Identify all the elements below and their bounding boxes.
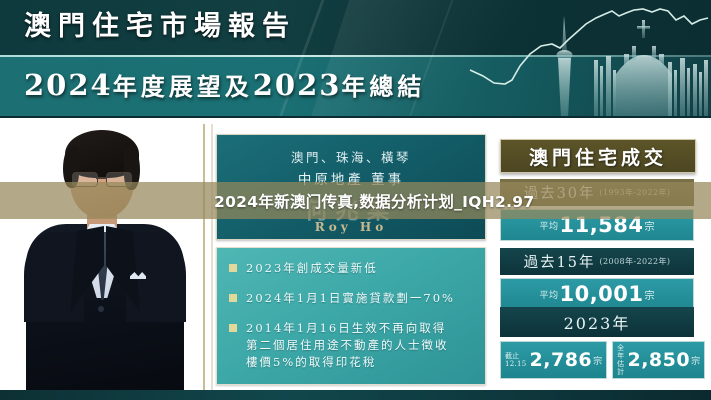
page-subtitle: 2024年度展望及2023年總結: [24, 63, 425, 109]
presenter-name-en: Roy Ho: [217, 220, 485, 234]
stat-label-15y-range: (2008年-2022年): [600, 256, 671, 267]
presenter-photo: [18, 120, 193, 392]
bullet-square-icon: [229, 294, 237, 302]
stat-value-30y-unit: 宗: [645, 218, 655, 233]
bullet-square-icon: [229, 324, 237, 332]
key-point-text: 2024年1月1日實施貸款劃一70%: [246, 290, 455, 307]
stat-value-30y-prefix: 平均: [539, 219, 558, 232]
subtitle-mid: 年度展望及: [113, 72, 253, 101]
stat-cell-ytd-number: 2,786: [530, 349, 593, 371]
list-item: 2023年創成交量新低: [229, 260, 477, 277]
stat-cell-forecast-tag-l1: 全年: [617, 344, 624, 360]
photo-glasses-bridge: [96, 177, 106, 179]
stat-label-15y: 過去15年 (2008年-2022年): [500, 248, 694, 275]
stat-label-15y-main: 過去15年: [524, 251, 596, 272]
region-line: 澳門、珠海、橫琴: [217, 147, 485, 166]
subtitle-end: 年總結: [341, 72, 425, 101]
watermark-text: 2024年新澳门传真,数据分析计划_IQH2.97: [0, 182, 711, 219]
key-points-list: 2023年創成交量新低 2024年1月1日實施貸款劃一70% 2014年1月16…: [229, 260, 477, 384]
stat-cell-forecast: 全年 估計 2,850 宗: [612, 341, 705, 379]
stat-cell-ytd-tag-l2: 12.15: [505, 360, 527, 368]
stat-cell-ytd-tag: 截止 12.15: [505, 352, 527, 368]
stat-value-15y-prefix: 平均: [539, 288, 558, 301]
subtitle-year-1: 2024: [24, 68, 113, 102]
stat-cell-ytd-tag-l1: 截止: [505, 352, 520, 360]
report-infographic: 澳門住宅市場報告 2024年度展望及2023年總結 澳門、珠海、橫琴 中原地產 …: [0, 0, 711, 400]
stat-cell-ytd: 截止 12.15 2,786 宗: [500, 341, 607, 379]
stat-cell-forecast-number: 2,850: [627, 349, 690, 371]
vertical-rule-gold: [203, 124, 205, 390]
transactions-panel-title-text: 澳門住宅成交: [529, 143, 667, 170]
stat-value-15y: 平均 10,001 宗: [500, 278, 694, 310]
stat-label-2023: 2023年: [500, 307, 694, 337]
bullet-square-icon: [229, 264, 237, 272]
header-banner: 澳門住宅市場報告 2024年度展望及2023年總結: [0, 0, 711, 118]
stat-label-2023-text: 2023年: [564, 310, 631, 334]
bottom-strip: [0, 390, 711, 400]
stat-cells-2023: 截止 12.15 2,786 宗 全年 估計 2,850 宗: [500, 341, 694, 379]
key-point-text: 2023年創成交量新低: [246, 260, 378, 277]
subtitle-year-2: 2023: [253, 68, 342, 102]
stat-row-15y: 過去15年 (2008年-2022年) 平均 10,001 宗: [500, 248, 694, 310]
page-title: 澳門住宅市場報告: [24, 8, 296, 46]
transactions-panel-title: 澳門住宅成交: [500, 139, 696, 173]
stat-cell-ytd-unit: 宗: [593, 354, 602, 367]
stat-value-15y-unit: 宗: [645, 287, 655, 302]
stat-cell-forecast-tag: 全年 估計: [617, 344, 624, 376]
stat-value-15y-number: 10,001: [559, 282, 643, 306]
list-item: 2014年1月16日生效不再向取得 第二個居住用途不動產的人士徵收 樓價5%的取…: [229, 320, 477, 371]
stat-cell-forecast-unit: 宗: [691, 354, 700, 367]
photo-suit-button: [98, 306, 104, 312]
vertical-rule-cream: [211, 124, 213, 390]
stat-cell-forecast-tag-l2: 估計: [617, 360, 624, 376]
key-point-text: 2014年1月16日生效不再向取得 第二個居住用途不動產的人士徵收 樓價5%的取…: [246, 320, 449, 371]
list-item: 2024年1月1日實施貸款劃一70%: [229, 290, 477, 307]
key-points-panel: 2023年創成交量新低 2024年1月1日實施貸款劃一70% 2014年1月16…: [216, 247, 486, 385]
